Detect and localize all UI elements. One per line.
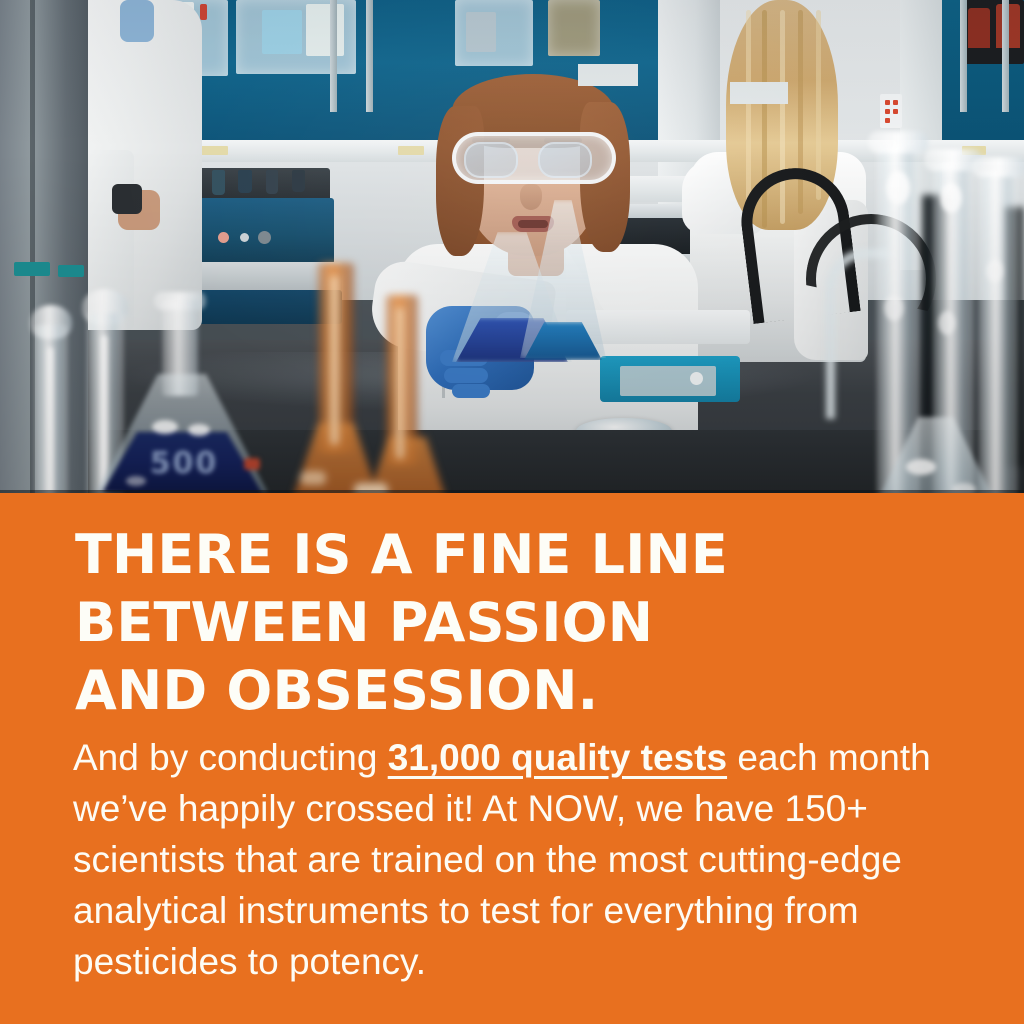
body-copy: And by conducting 31,000 quality tests e… [73,732,943,987]
headline-line-3: AND OBSESSION. [75,657,955,725]
teal-label-strip [14,262,50,276]
glass-specular [300,471,326,485]
flask-500ml: 500 [96,300,268,493]
social-graphic: 500 [0,0,1024,1024]
warning-label [200,4,207,20]
glove-finger [444,368,488,383]
flask-red-marking [244,458,260,470]
sample-vial [266,170,278,194]
glass-specular [938,311,956,335]
quality-tests-emphasis: 31,000 quality tests [388,737,727,778]
page-title: THERE IS A FINE LINE BETWEEN PASSION AND… [75,521,955,725]
sample-vial [212,170,225,195]
cabinet-mullion [960,0,967,112]
sample-vial [292,170,305,192]
indicator-led [885,118,890,123]
glass-specular [884,295,904,321]
glass-specular [188,424,210,436]
cabinet-mullion [330,0,337,112]
mouth-inner [518,220,548,228]
cabinet-mullion [366,0,373,112]
cylinder-lip [868,131,928,153]
wall-control-panel [880,94,902,128]
cabinet-mullion [1002,0,1009,112]
instrument-knob [258,231,271,244]
teal-label-strip [58,265,84,277]
instrument-knob [218,232,229,243]
glass-specular [940,183,962,213]
red-chair [968,8,990,48]
lab-worker-left-glove [120,0,154,42]
reagent-bottle [306,4,344,56]
handheld-device [112,184,142,214]
flask-volume-label: 500 [132,446,236,482]
headline-line-1: THERE IS A FINE LINE [75,521,955,589]
indicator-led [893,109,898,114]
volumetric-flask [848,417,1024,493]
counter-tape-marker [200,146,228,155]
body-text-before: And by conducting [73,737,388,778]
glass-highlight [330,275,339,445]
instrument-knob [240,233,249,242]
tray-leg [730,82,788,104]
safety-goggles-icon [452,132,616,184]
glass-specular [886,171,910,205]
indicator-led [885,100,890,105]
reagent-bottle [262,10,302,54]
nose [520,184,542,210]
reagent-bottle [466,12,496,52]
laboratory-photo: 500 [0,0,1024,493]
flask-bulb [848,417,1024,493]
cylinder-lip [972,157,1024,177]
cabinet-wood-panel [548,0,600,56]
glass-specular [986,259,1004,283]
glass-specular [906,459,936,475]
glass-specular [152,420,178,434]
glass-highlight [396,307,404,459]
headline-line-2: BETWEEN PASSION [75,589,955,657]
tray-leg [578,64,638,86]
hair-strand [746,10,751,220]
glass-specular [126,476,146,486]
instrument-button [690,372,703,385]
glove-finger [452,384,490,398]
sample-vial [238,170,252,193]
indicator-led [885,109,890,114]
indicator-led [893,100,898,105]
glass-highlight [46,347,54,493]
